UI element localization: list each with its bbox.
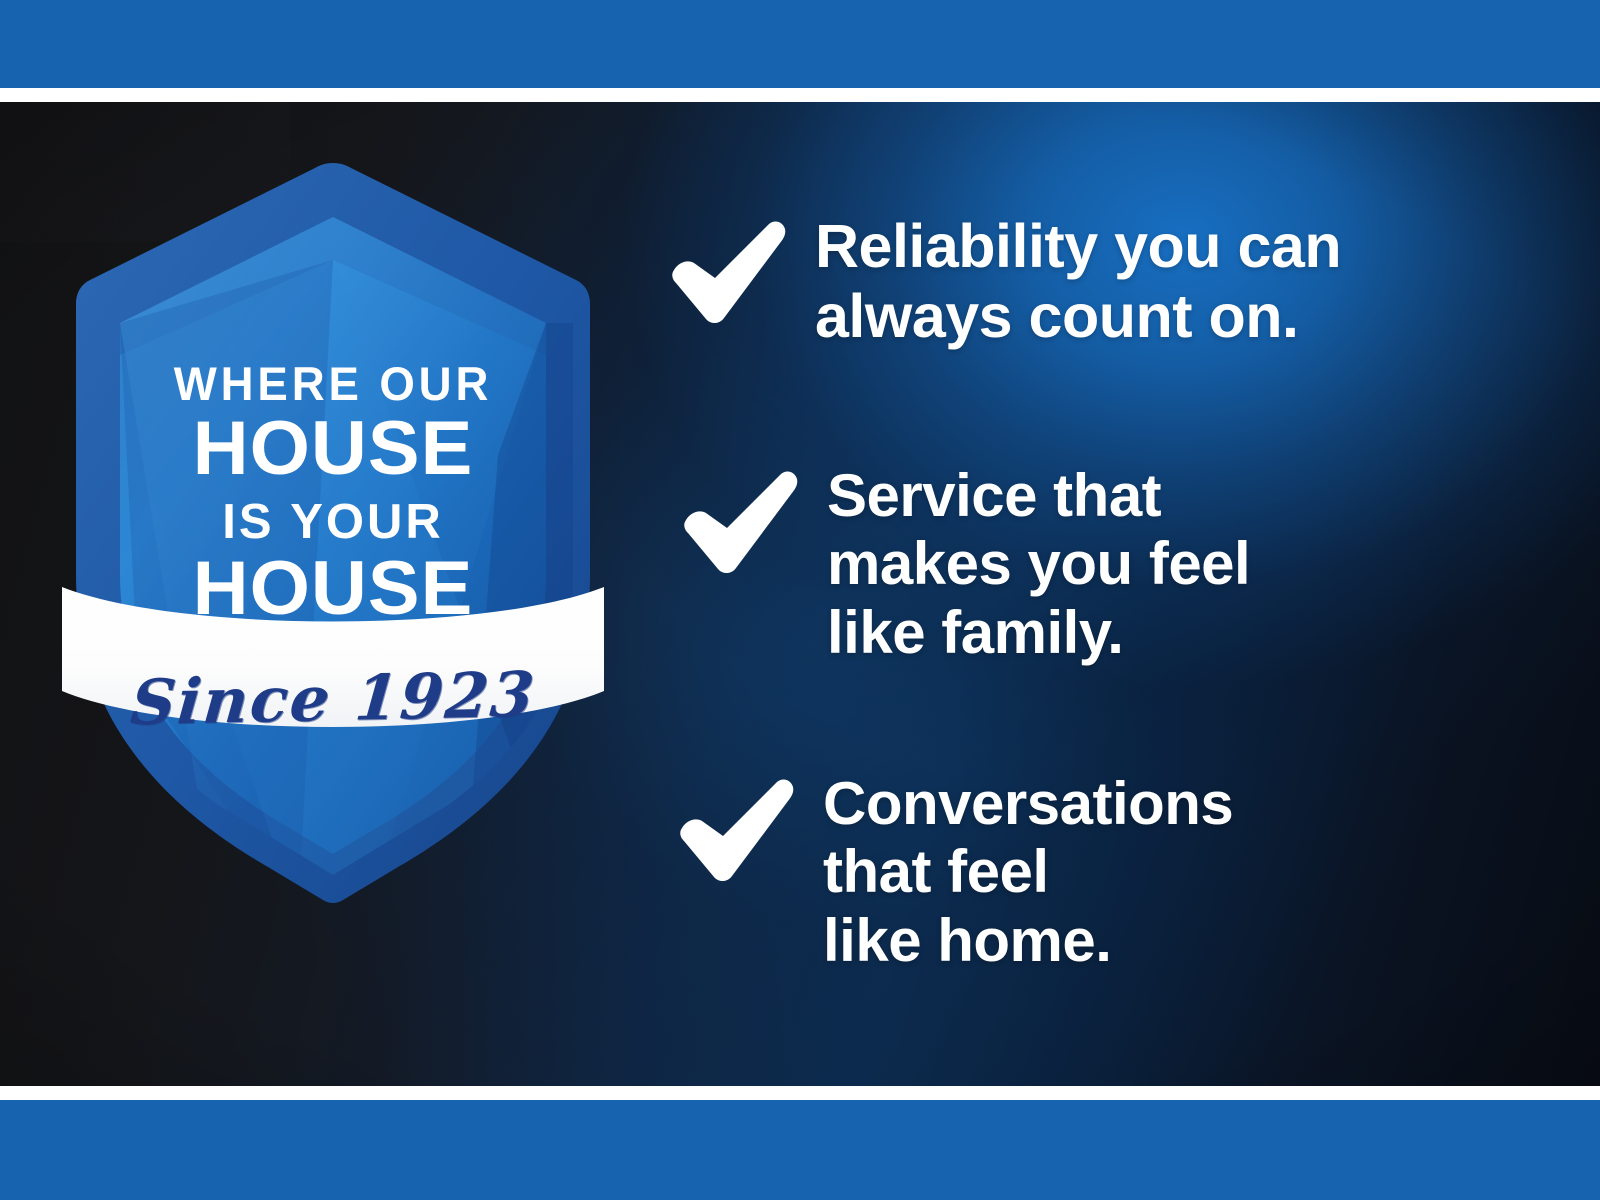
check-icon (677, 468, 799, 578)
benefit-item-2: Service that makes you feel like family. (677, 462, 1250, 667)
shield-badge-icon (68, 155, 598, 845)
bottom-white-separator (0, 1086, 1600, 1100)
top-white-separator (0, 88, 1600, 102)
benefit-item-1: Reliability you can always count on. (665, 212, 1341, 351)
benefit-text-2: Service that makes you feel like family. (827, 462, 1250, 667)
check-icon (665, 218, 787, 328)
promo-graphic: WHERE OUR HOUSE IS YOUR HOUSE Since 1923… (0, 0, 1600, 1200)
top-brand-bar (0, 0, 1600, 88)
shield-badge-logo: WHERE OUR HOUSE IS YOUR HOUSE Since 1923 (68, 155, 598, 845)
check-icon (673, 776, 795, 886)
benefit-text-1: Reliability you can always count on. (815, 212, 1341, 351)
benefit-text-3: Conversations that feel like home. (823, 770, 1233, 975)
bottom-brand-bar (0, 1100, 1600, 1200)
benefit-item-3: Conversations that feel like home. (673, 770, 1233, 975)
